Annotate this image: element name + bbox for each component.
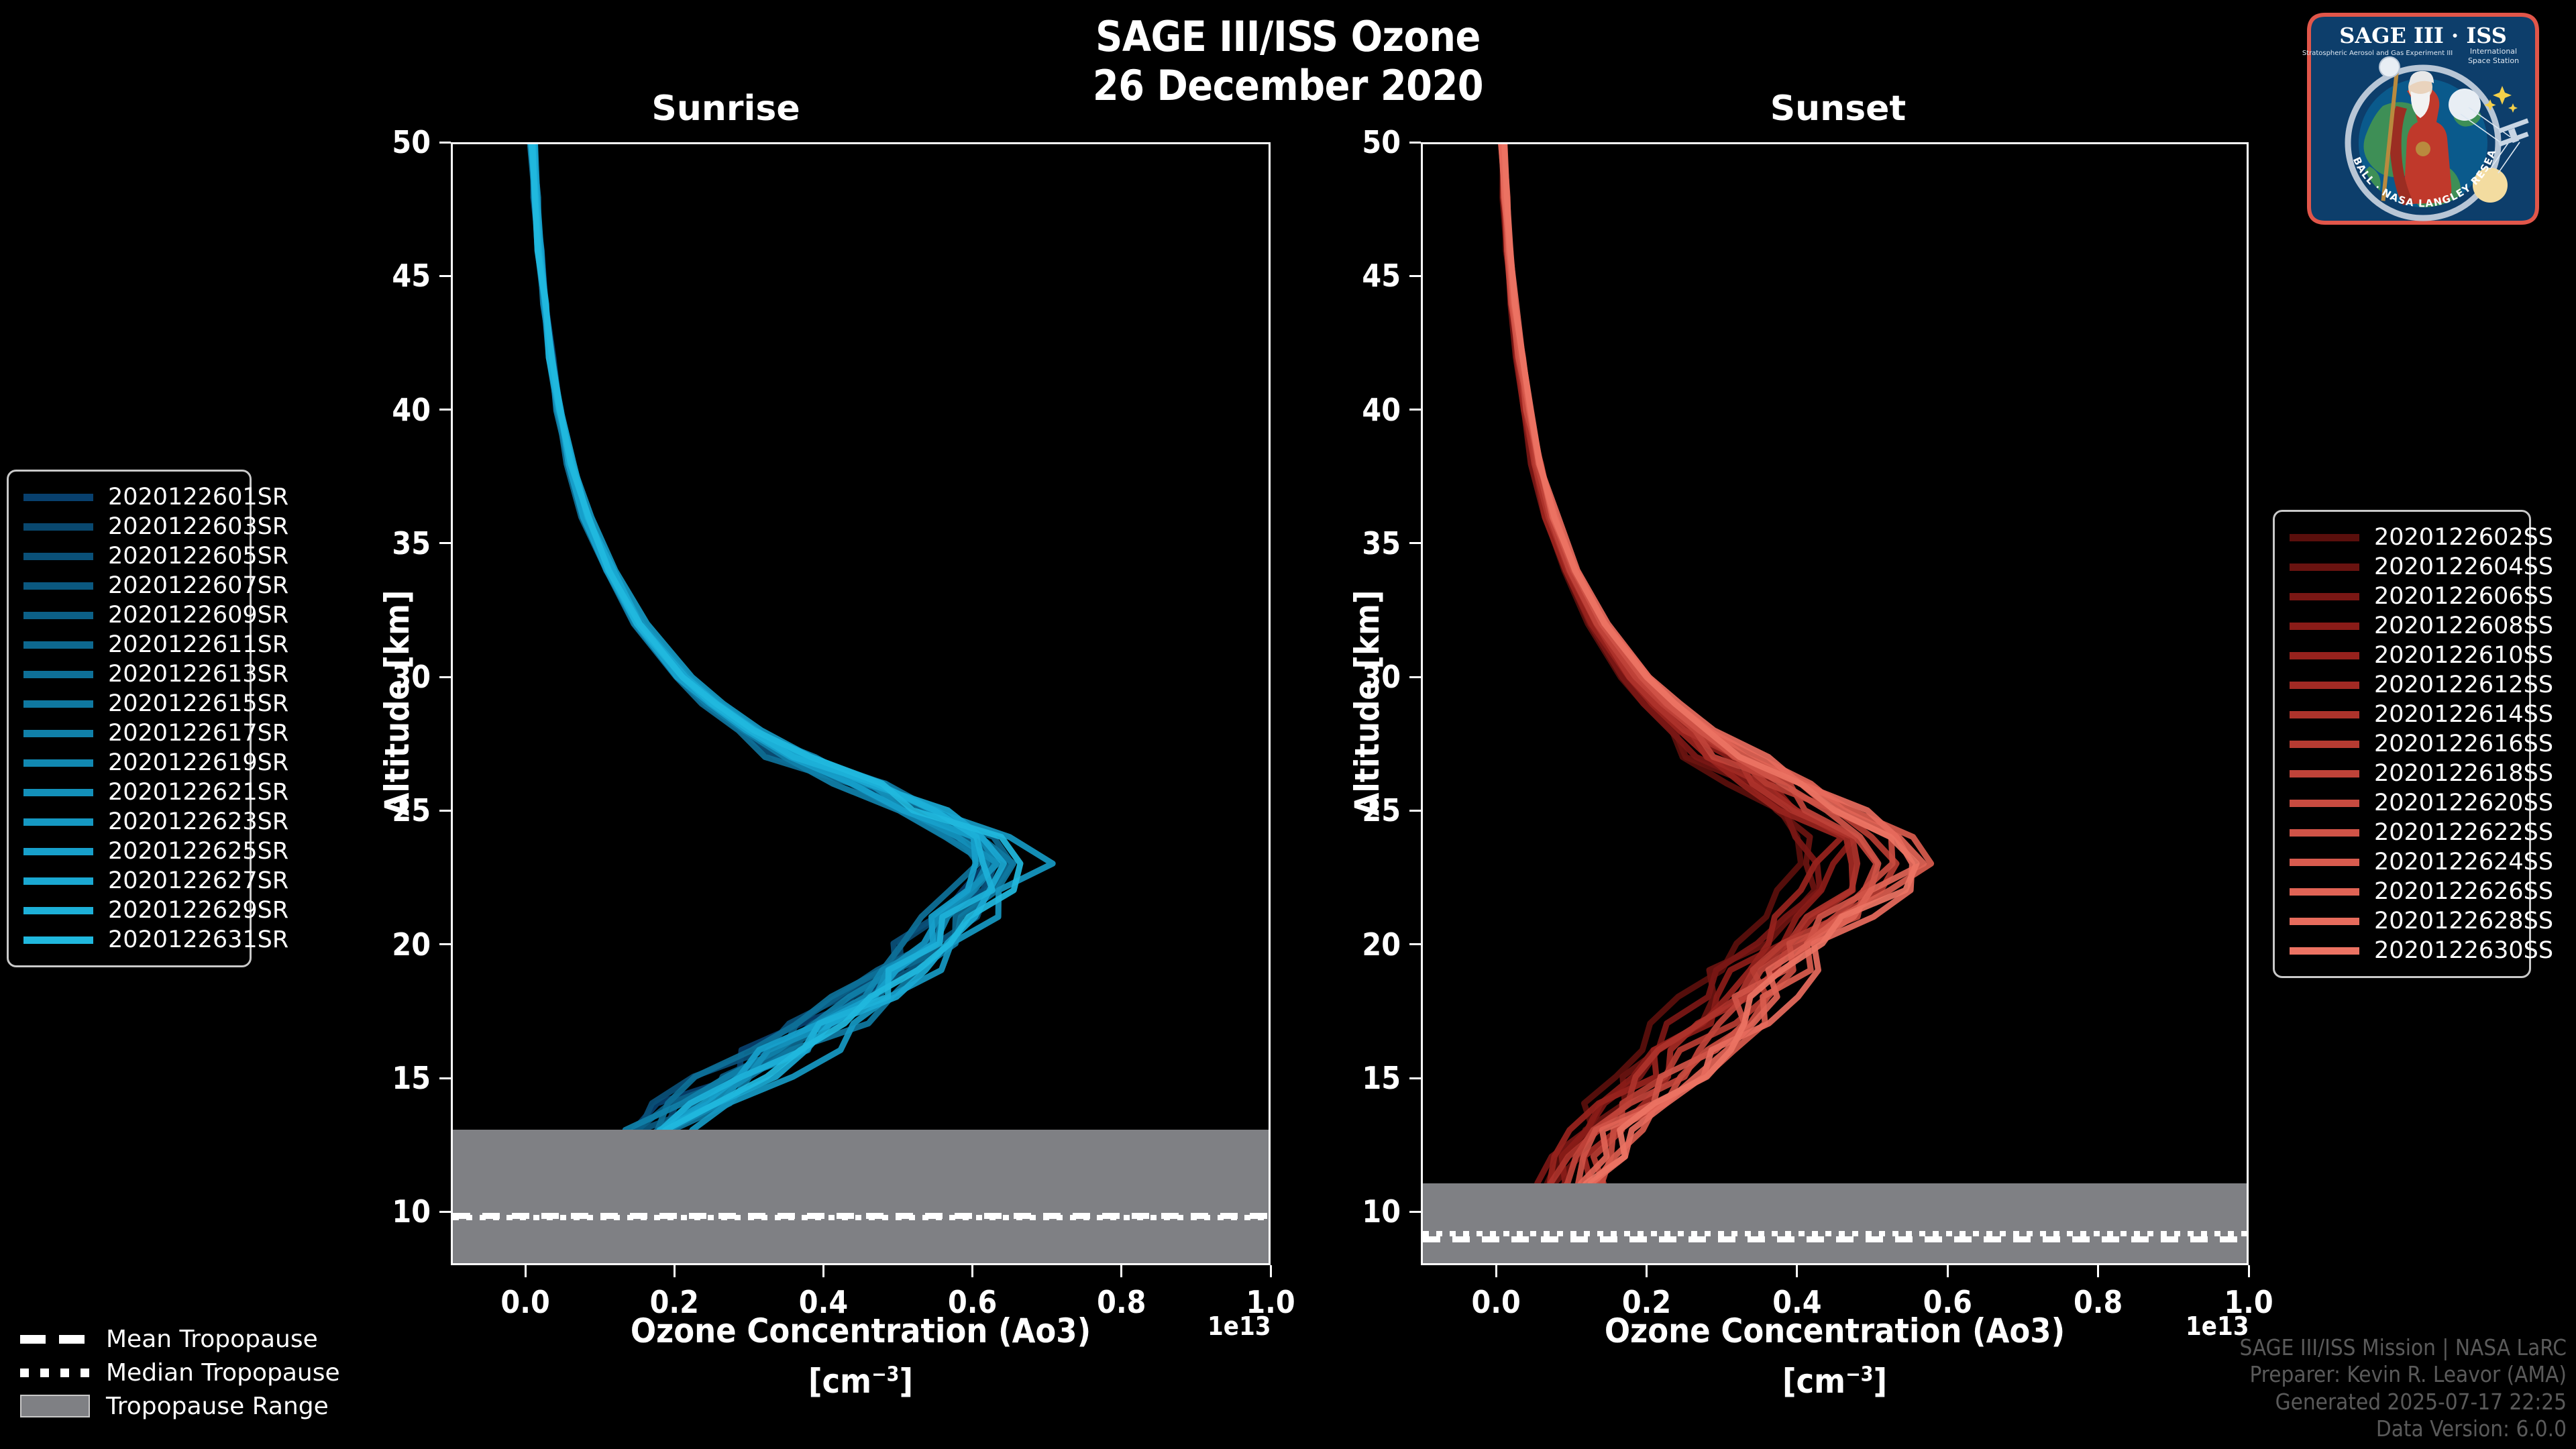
legend-item-label: 2020122607SR: [108, 572, 288, 599]
sunset-panel-title: Sunset: [1697, 89, 1979, 129]
legend-item[interactable]: 2020122618SS: [2290, 759, 2514, 788]
y-axis-tick: [439, 676, 451, 678]
series-line: [534, 144, 994, 1236]
legend-item-label: 2020122628SS: [2374, 908, 2553, 934]
series-line: [1503, 144, 1856, 1236]
x-axis-tick: [1120, 1265, 1122, 1277]
legend-item[interactable]: 2020122617SR: [23, 718, 235, 748]
legend-item[interactable]: 2020122631SR: [23, 925, 235, 955]
y-axis-tick: [1409, 1211, 1421, 1213]
legend-color-swatch: [23, 641, 93, 649]
legend-item[interactable]: 2020122609SR: [23, 600, 235, 630]
tropopause-legend: Mean TropopauseMedian TropopauseTropopau…: [5, 1311, 354, 1434]
y-axis-tick: [1409, 409, 1421, 411]
sunrise-legend[interactable]: 2020122601SR2020122603SR2020122605SR2020…: [7, 470, 252, 967]
legend-color-swatch: [23, 759, 93, 767]
sunset-plot-area: [1423, 144, 2247, 1263]
patch-moon: [2449, 89, 2481, 121]
sunrise-series-svg: [453, 144, 1269, 1263]
footer-credits: SAGE III/ISS Mission | NASA LaRC Prepare…: [2239, 1334, 2567, 1442]
sunrise-median-tropopause-line: [453, 1215, 1269, 1220]
sunrise-plot-area: [453, 144, 1269, 1263]
legend-color-swatch: [2290, 623, 2359, 630]
series-line: [1504, 144, 1853, 1236]
legend-item-label: 2020122621SR: [108, 779, 288, 806]
legend-item[interactable]: 2020122610SS: [2290, 641, 2514, 670]
legend-item-label: 2020122618SS: [2374, 760, 2553, 787]
legend-item-label: 2020122612SS: [2374, 672, 2553, 698]
series-line: [531, 144, 998, 1236]
y-axis-tick: [439, 1077, 451, 1079]
legend-color-swatch: [23, 877, 93, 885]
tropopause-legend-label: Median Tropopause: [106, 1359, 340, 1387]
legend-item[interactable]: 2020122606SS: [2290, 582, 2514, 611]
y-axis-tick-label: 50: [1320, 124, 1401, 160]
legend-item-label: 2020122624SS: [2374, 849, 2553, 875]
x-axis-tick: [1646, 1265, 1648, 1277]
x-axis-tick: [525, 1265, 527, 1277]
y-axis-tick-label: 40: [1320, 392, 1401, 428]
legend-item[interactable]: 2020122624SS: [2290, 847, 2514, 877]
sunrise-tropopause-range-band: [453, 1130, 1269, 1263]
legend-item[interactable]: 2020122627SR: [23, 866, 235, 896]
y-axis-tick-label: 20: [1320, 926, 1401, 963]
x-axis-tick: [1796, 1265, 1798, 1277]
legend-color-swatch: [23, 818, 93, 826]
y-axis-tick: [1409, 275, 1421, 277]
legend-color-swatch: [23, 523, 93, 531]
legend-color-swatch: [23, 936, 93, 944]
y-axis-tick: [439, 142, 451, 144]
series-line: [535, 144, 1053, 1236]
patch-title-text: SAGE III · ISS: [2339, 23, 2507, 48]
legend-item-label: 2020122625SR: [108, 838, 288, 865]
series-line: [1504, 144, 1877, 1236]
sunrise-y-axis-title: Altitude [km]: [378, 535, 417, 871]
legend-color-swatch: [23, 907, 93, 914]
legend-color-swatch: [2290, 918, 2359, 925]
footer-line-mission: SAGE III/ISS Mission | NASA LaRC: [2239, 1334, 2567, 1361]
legend-item-label: 2020122606SS: [2374, 583, 2553, 610]
legend-item[interactable]: 2020122615SR: [23, 689, 235, 718]
y-axis-tick: [439, 409, 451, 411]
legend-color-swatch: [23, 671, 93, 678]
y-axis-tick-label: 10: [1320, 1193, 1401, 1230]
legend-item[interactable]: 2020122628SS: [2290, 906, 2514, 936]
legend-item-label: 2020122611SR: [108, 631, 288, 658]
tropopause-legend-label: Mean Tropopause: [106, 1326, 318, 1353]
legend-color-swatch: [2290, 888, 2359, 896]
y-axis-tick-label: 20: [350, 926, 431, 963]
series-line: [1502, 144, 1857, 1236]
y-axis-tick: [439, 943, 451, 945]
legend-color-swatch: [2290, 800, 2359, 807]
legend-item-label: 2020122631SR: [108, 926, 288, 953]
legend-item-label: 2020122610SS: [2374, 642, 2553, 669]
patch-subtitle-left: Stratospheric Aerosol and Gas Experiment…: [2302, 50, 2453, 57]
series-line: [533, 144, 996, 1236]
legend-item-label: 2020122608SS: [2374, 612, 2553, 639]
y-axis-tick: [1409, 542, 1421, 544]
legend-item-label: 2020122601SR: [108, 484, 288, 511]
y-axis-tick-label: 15: [350, 1060, 431, 1096]
legend-color-swatch: [23, 612, 93, 619]
sunrise-x-units-text: [cm−3]: [808, 1362, 913, 1401]
legend-color-swatch: [2290, 652, 2359, 659]
y-axis-tick-label: 10: [350, 1193, 431, 1230]
legend-item-label: 2020122622SS: [2374, 819, 2553, 846]
x-axis-tick: [2248, 1265, 2250, 1277]
legend-item-label: 2020122614SS: [2374, 701, 2553, 728]
series-line: [1505, 144, 1917, 1236]
legend-item[interactable]: 2020122614SS: [2290, 700, 2514, 729]
legend-item-label: 2020122605SR: [108, 543, 288, 570]
legend-item[interactable]: 2020122607SR: [23, 571, 235, 600]
legend-color-swatch: [2290, 741, 2359, 748]
y-axis-tick: [1409, 810, 1421, 812]
legend-color-swatch: [23, 789, 93, 796]
mean-tropopause-swatch: [20, 1335, 90, 1344]
legend-item-label: 2020122609SR: [108, 602, 288, 629]
legend-item-label: 2020122630SS: [2374, 937, 2553, 964]
sunset-x-axis-units: [cm−3]: [1421, 1362, 2249, 1401]
legend-item-label: 2020122626SS: [2374, 878, 2553, 905]
sunset-mean-tropopause-line: [1423, 1236, 2247, 1242]
legend-color-swatch: [23, 494, 93, 501]
legend-item-label: 2020122603SR: [108, 513, 288, 540]
legend-item[interactable]: 2020122620SS: [2290, 788, 2514, 818]
legend-item[interactable]: 2020122602SS: [2290, 523, 2514, 552]
legend-item[interactable]: 2020122613SR: [23, 659, 235, 689]
sage-iii-iss-mission-patch-logo: SAGE III · ISS Stratospheric Aerosol and…: [2289, 5, 2557, 247]
legend-item[interactable]: 2020122623SR: [23, 807, 235, 837]
x-axis-tick: [1495, 1265, 1497, 1277]
y-axis-tick-label: 45: [350, 258, 431, 294]
x-axis-tick: [2097, 1265, 2099, 1277]
series-line: [531, 144, 993, 1236]
legend-item[interactable]: 2020122612SS: [2290, 670, 2514, 700]
y-axis-tick: [1409, 676, 1421, 678]
sunrise-x-axis-title: Ozone Concentration (Ao3): [451, 1311, 1271, 1350]
y-axis-tick-label: 50: [350, 124, 431, 160]
y-axis-tick: [439, 275, 451, 277]
sunset-x-axis-title: Ozone Concentration (Ao3): [1421, 1311, 2249, 1350]
x-axis-tick: [1947, 1265, 1949, 1277]
legend-item[interactable]: 2020122611SR: [23, 630, 235, 659]
legend-color-swatch: [23, 848, 93, 855]
sunset-x-units-text: [cm−3]: [1782, 1362, 1887, 1401]
legend-item-label: 2020122619SR: [108, 749, 288, 776]
y-axis-tick: [439, 810, 451, 812]
y-axis-tick: [1409, 1077, 1421, 1079]
legend-color-swatch: [2290, 829, 2359, 837]
legend-color-swatch: [2290, 534, 2359, 541]
legend-item[interactable]: 2020122604SS: [2290, 552, 2514, 582]
legend-item-label: 2020122613SR: [108, 661, 288, 688]
sunset-median-tropopause-line: [1423, 1231, 2247, 1236]
legend-item[interactable]: 2020122625SR: [23, 837, 235, 866]
footer-line-version: Data Version: 6.0.0: [2239, 1415, 2567, 1442]
legend-item[interactable]: 2020122626SS: [2290, 877, 2514, 906]
legend-color-swatch: [2290, 682, 2359, 689]
series-line: [535, 144, 996, 1236]
patch-subtitle-right-2: Space Station: [2468, 56, 2519, 65]
y-axis-tick: [1409, 943, 1421, 945]
tropopause-legend-item: Mean Tropopause: [20, 1322, 339, 1356]
legend-color-swatch: [23, 553, 93, 560]
y-axis-tick-label: 15: [1320, 1060, 1401, 1096]
sunset-series-svg: [1423, 144, 2247, 1263]
legend-color-swatch: [2290, 593, 2359, 600]
legend-item-label: 2020122616SS: [2374, 731, 2553, 757]
legend-item-label: 2020122615SR: [108, 690, 288, 717]
sunrise-plot-panel: [451, 142, 1271, 1265]
legend-item[interactable]: 2020122630SS: [2290, 936, 2514, 965]
series-line: [1503, 144, 1931, 1236]
x-axis-tick: [1270, 1265, 1272, 1277]
legend-item-label: 2020122617SR: [108, 720, 288, 747]
patch-subtitle-right-1: International: [2470, 47, 2517, 56]
legend-item[interactable]: 2020122616SS: [2290, 729, 2514, 759]
y-axis-tick-label: 45: [1320, 258, 1401, 294]
series-line: [533, 144, 1020, 1236]
sunset-legend[interactable]: 2020122602SS2020122604SS2020122606SS2020…: [2273, 510, 2531, 978]
sunset-plot-panel: [1421, 142, 2249, 1265]
legend-color-swatch: [23, 730, 93, 737]
x-axis-tick: [674, 1265, 676, 1277]
series-line: [1503, 144, 1878, 1236]
legend-color-swatch: [23, 700, 93, 708]
footer-line-preparer: Preparer: Kevin R. Leavor (AMA): [2239, 1361, 2567, 1388]
y-axis-tick: [439, 1211, 451, 1213]
x-axis-tick: [822, 1265, 824, 1277]
legend-item[interactable]: 2020122603SR: [23, 512, 235, 541]
legend-item[interactable]: 2020122629SR: [23, 896, 235, 925]
sunrise-exponent-label: 1e13: [1207, 1311, 1271, 1341]
legend-item-label: 2020122627SR: [108, 867, 288, 894]
legend-item[interactable]: 2020122621SR: [23, 777, 235, 807]
legend-item-label: 2020122602SS: [2374, 524, 2553, 551]
sunrise-x-axis-units: [cm−3]: [451, 1362, 1271, 1401]
tropopause-range-swatch: [20, 1395, 90, 1417]
legend-item[interactable]: 2020122605SR: [23, 541, 235, 571]
legend-color-swatch: [23, 582, 93, 590]
legend-color-swatch: [2290, 711, 2359, 718]
legend-item[interactable]: 2020122622SS: [2290, 818, 2514, 847]
legend-color-swatch: [2290, 770, 2359, 777]
legend-color-swatch: [2290, 563, 2359, 571]
y-axis-tick-label: 40: [350, 392, 431, 428]
footer-line-generated: Generated 2025-07-17 22:25: [2239, 1389, 2567, 1415]
median-tropopause-swatch: [20, 1368, 90, 1377]
sunrise-panel-title: Sunrise: [585, 89, 867, 129]
tropopause-legend-item: Tropopause Range: [20, 1389, 339, 1423]
legend-item[interactable]: 2020122619SR: [23, 748, 235, 777]
series-line: [533, 144, 996, 1236]
legend-item-label: 2020122623SR: [108, 808, 288, 835]
legend-item-label: 2020122629SR: [108, 897, 288, 924]
x-axis-tick: [971, 1265, 973, 1277]
legend-item[interactable]: 2020122601SR: [23, 482, 235, 512]
sunset-y-axis-title: Altitude [km]: [1348, 535, 1387, 871]
page-title: SAGE III/ISS Ozone 26 December 2020: [0, 12, 2576, 110]
y-axis-tick: [1409, 142, 1421, 144]
sunset-tropopause-range-band: [1423, 1183, 2247, 1263]
legend-item-label: 2020122620SS: [2374, 790, 2553, 816]
tropopause-legend-item: Median Tropopause: [20, 1356, 339, 1389]
legend-color-swatch: [2290, 859, 2359, 866]
legend-item-label: 2020122604SS: [2374, 553, 2553, 580]
legend-color-swatch: [2290, 947, 2359, 955]
legend-item[interactable]: 2020122608SS: [2290, 611, 2514, 641]
y-axis-tick: [439, 542, 451, 544]
tropopause-legend-label: Tropopause Range: [106, 1393, 329, 1420]
